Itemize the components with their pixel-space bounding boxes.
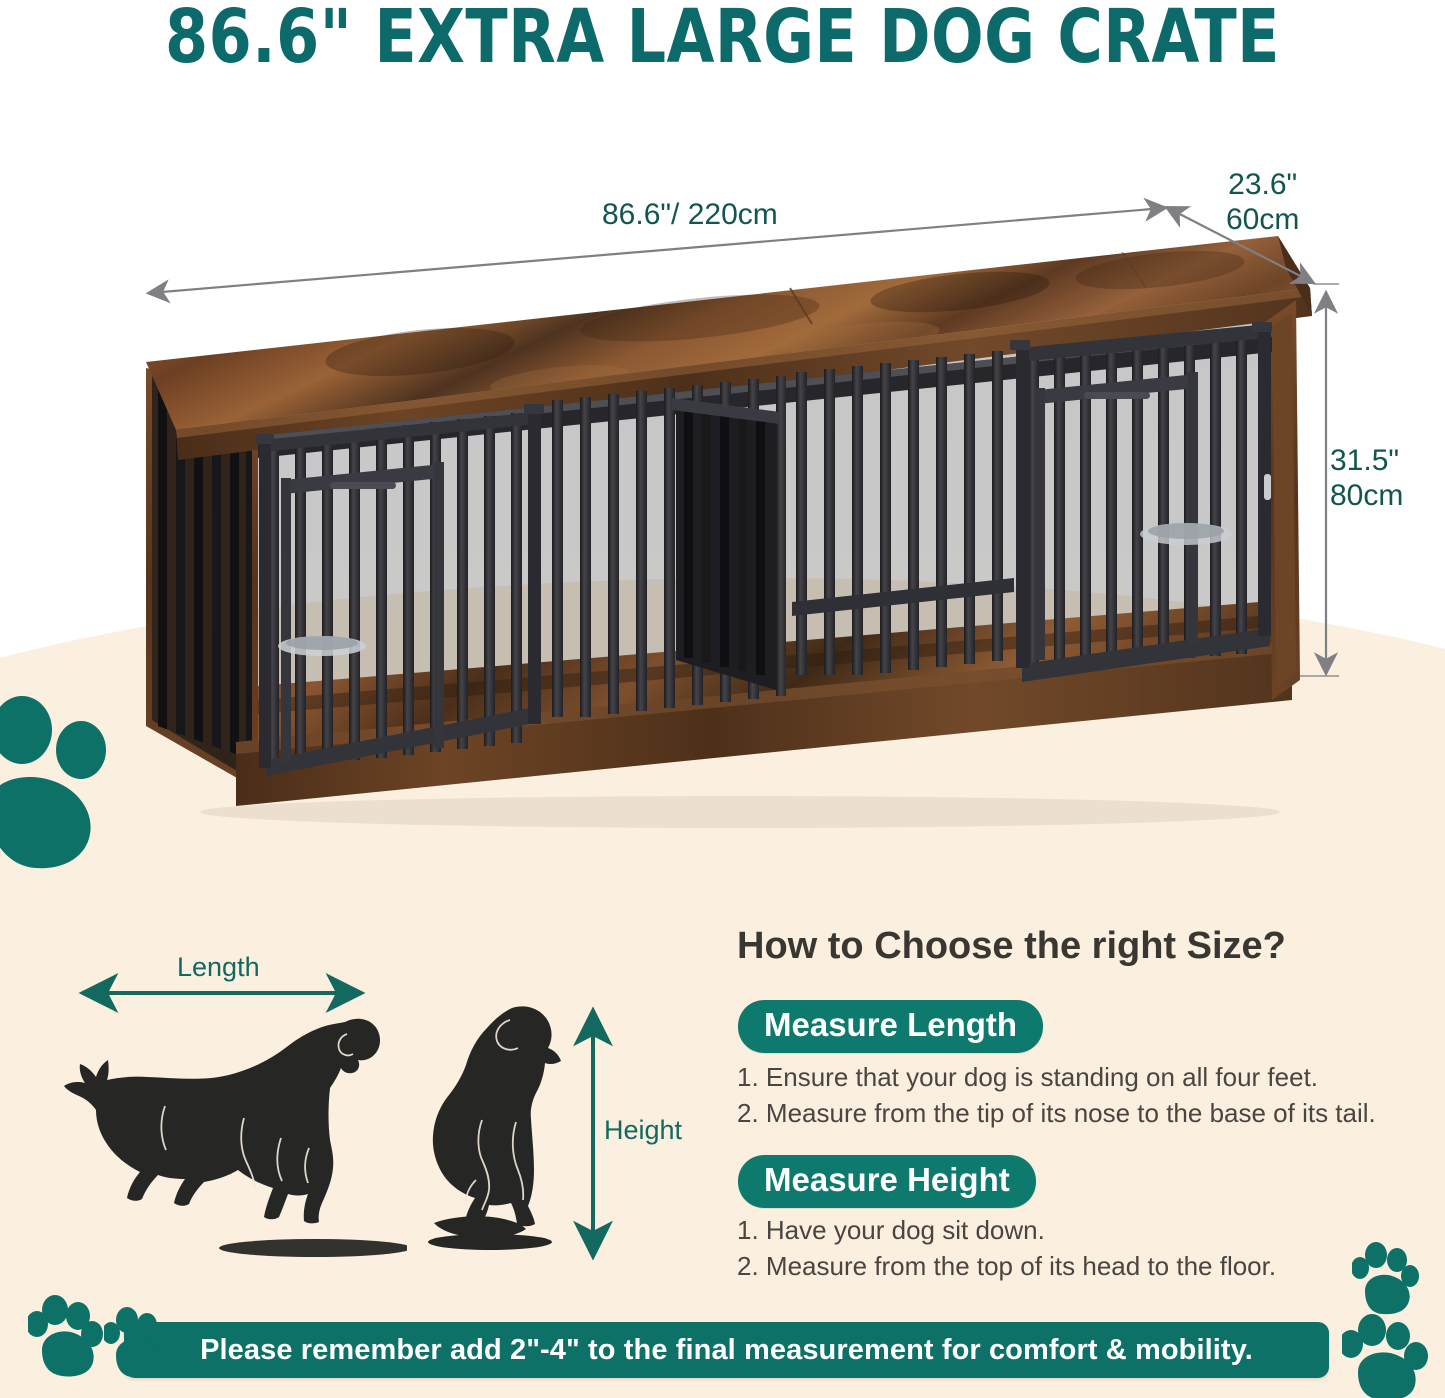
measure-length-steps: 1. Ensure that your dog is standing on a…	[737, 1060, 1376, 1132]
measure-height-step-2: 2. Measure from the top of its head to t…	[737, 1249, 1276, 1285]
page-title: 86.6" EXTRA LARGE DOG CRATE	[51, 0, 1395, 80]
footer-note-banner: Please remember add 2"-4" to the final m…	[124, 1322, 1329, 1378]
paw-print-icon	[1342, 1308, 1434, 1398]
dimension-label-length: 86.6"/ 220cm	[602, 198, 778, 233]
paw-print-icon	[0, 688, 136, 878]
length-axis-label: Length	[177, 952, 260, 983]
dimension-label-height: 31.5" 80cm	[1330, 444, 1403, 513]
height-axis-label: Height	[604, 1115, 682, 1146]
measure-height-step-1: 1. Have your dog sit down.	[737, 1213, 1276, 1249]
dimension-depth-cm: 60cm	[1226, 203, 1299, 238]
dimension-height-inches: 31.5"	[1330, 444, 1403, 479]
measure-height-steps: 1. Have your dog sit down. 2. Measure fr…	[737, 1213, 1276, 1285]
measure-length-badge: Measure Length	[738, 1000, 1043, 1053]
paw-print-icon	[1352, 1234, 1430, 1316]
infographic-canvas: 86.6" EXTRA LARGE DOG CRATE 86.6"/ 220cm…	[0, 0, 1445, 1398]
dimension-label-depth: 23.6" 60cm	[1226, 168, 1299, 237]
footer-note-text: Please remember add 2"-4" to the final m…	[200, 1334, 1253, 1367]
paw-print-icon	[104, 1300, 178, 1378]
dimension-depth-inches: 23.6"	[1226, 168, 1299, 203]
dog-sitting-silhouette-icon	[404, 998, 594, 1266]
measure-length-step-2: 2. Measure from the tip of its nose to t…	[737, 1096, 1376, 1132]
dimension-height-cm: 80cm	[1330, 479, 1403, 514]
measure-length-step-1: 1. Ensure that your dog is standing on a…	[737, 1060, 1376, 1096]
howto-heading: How to Choose the right Size?	[737, 925, 1286, 968]
dog-standing-silhouette-icon	[62, 998, 407, 1263]
measure-height-badge: Measure Height	[738, 1155, 1036, 1208]
paw-print-icon	[28, 1286, 116, 1378]
